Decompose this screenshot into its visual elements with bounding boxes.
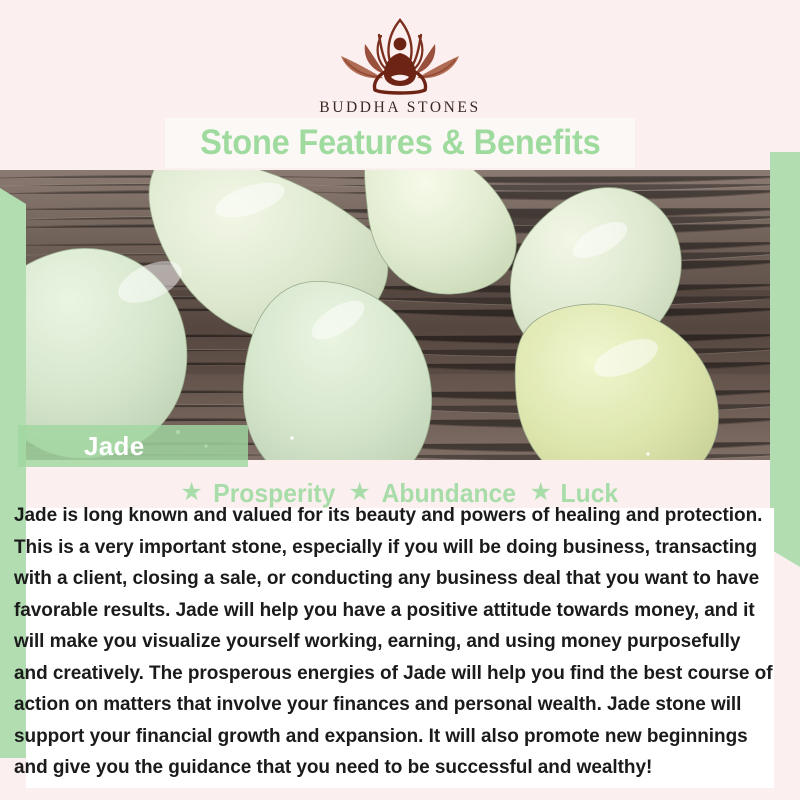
page-title-box: Stone Features & Benefits <box>165 118 635 168</box>
page-title: Stone Features & Benefits <box>200 123 601 163</box>
lotus-meditation-icon <box>325 14 475 96</box>
stone-name-chip: Jade <box>18 425 248 467</box>
stone-name: Jade <box>84 431 144 462</box>
jade-stones-photo <box>0 170 800 460</box>
description-text: Jade is long known and valued for its be… <box>14 500 774 784</box>
brand-name: BUDDHA STONES <box>0 99 800 117</box>
brand-header: BUDDHA STONES <box>0 14 800 117</box>
stone-benefits-card: BUDDHA STONES <box>0 0 800 800</box>
